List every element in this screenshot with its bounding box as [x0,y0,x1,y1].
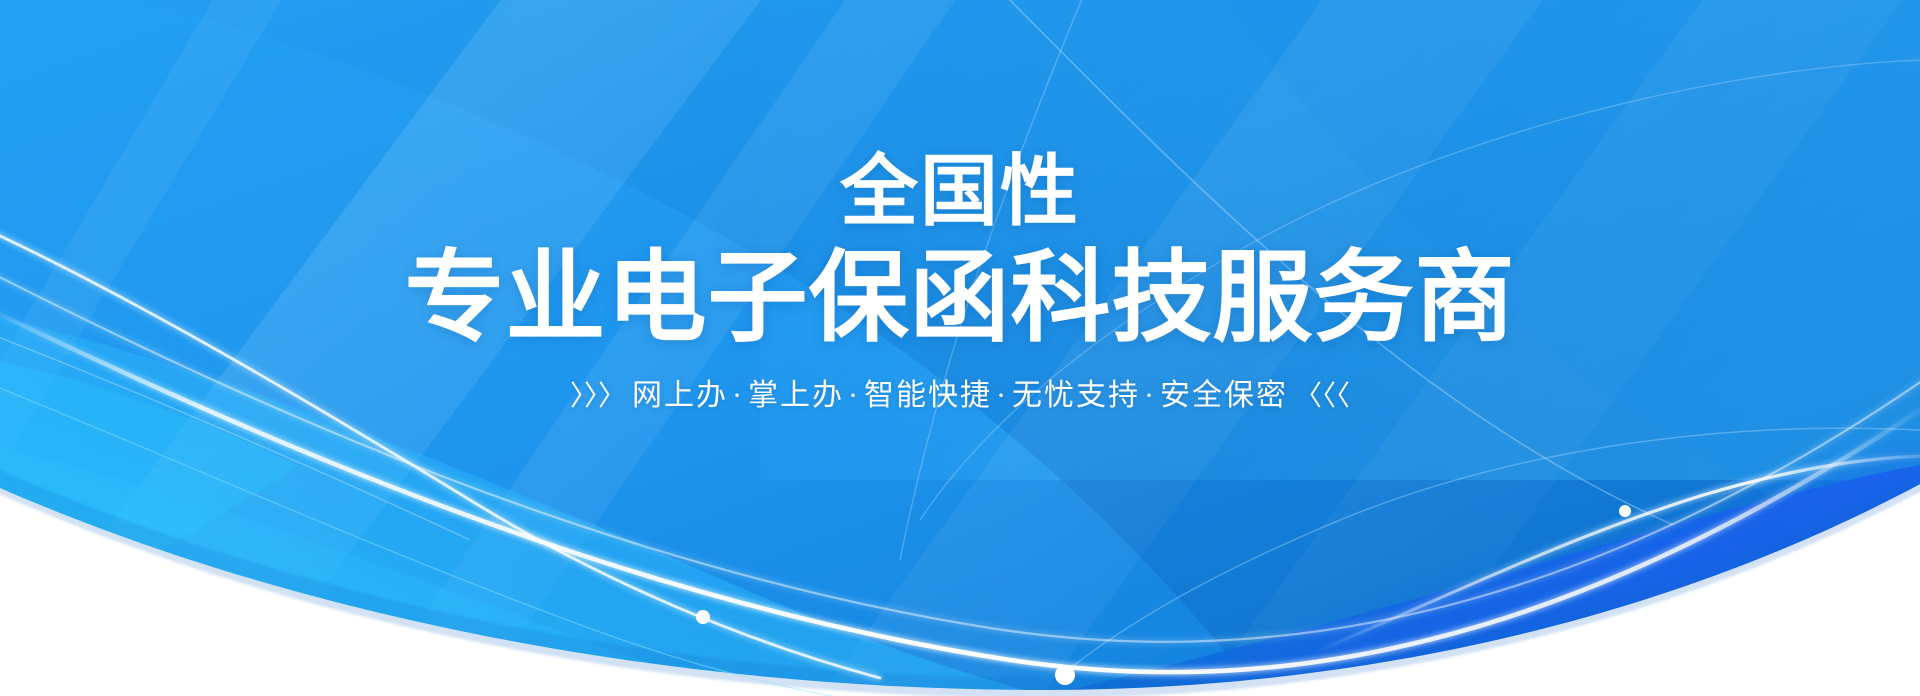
dot-right-high [1619,505,1631,517]
hero-banner: 全国性 专业电子保函科技服务商 〉〉〉网上办·掌上办·智能快捷·无忧支持·安全保… [0,0,1920,696]
background-artwork [0,0,1920,696]
dot-left-curve [696,610,710,624]
dot-center-curve [1055,665,1075,685]
dot-right-low [1554,640,1570,656]
